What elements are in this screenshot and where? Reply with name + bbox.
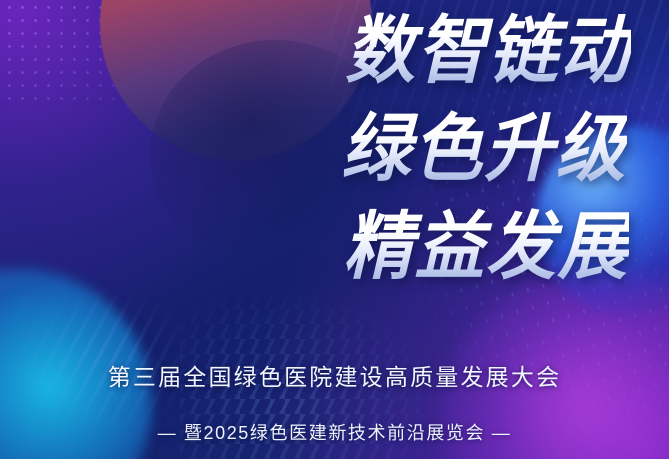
headline-block: 数智链动 绿色升级 精益发展 <box>323 2 631 296</box>
headline-line-1: 数智链动 <box>341 2 631 100</box>
event-poster: 数智链动 绿色升级 精益发展 第三届全国绿色医院建设高质量发展大会 — 暨202… <box>0 0 669 459</box>
conference-subtitle: — 暨2025绿色医建新技术前沿展览会 — <box>0 419 669 445</box>
headline-line-2: 绿色升级 <box>341 100 627 198</box>
headline-line-3: 精益发展 <box>341 198 629 296</box>
conference-title: 第三届全国绿色医院建设高质量发展大会 <box>0 358 669 392</box>
dot-matrix-pattern-icon <box>0 0 320 108</box>
